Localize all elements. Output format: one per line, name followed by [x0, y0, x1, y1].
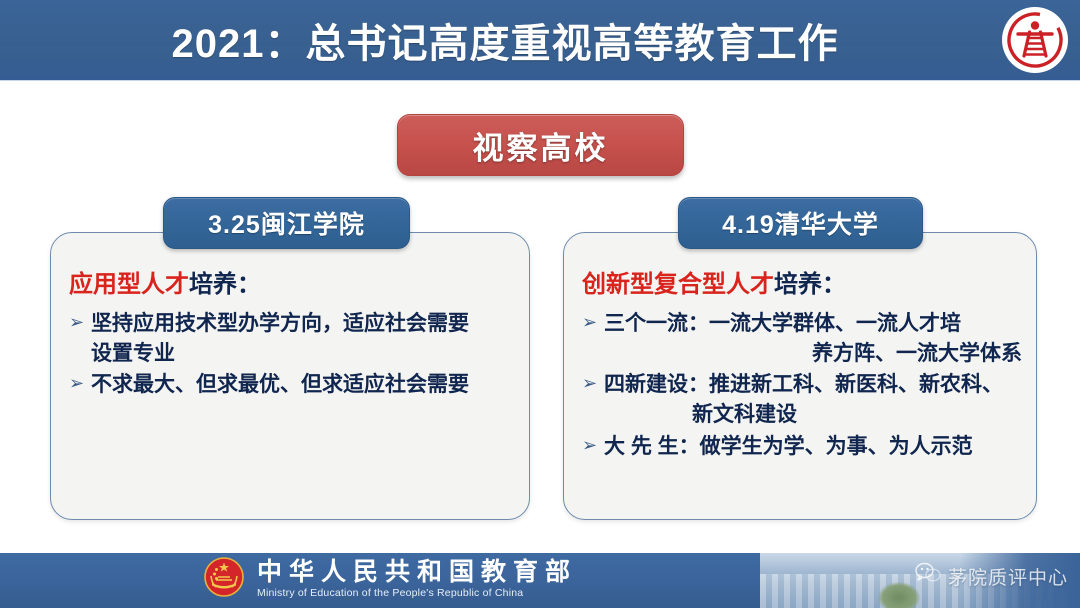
list-item-line1: 三个一流：一流大学群体、一流人才培	[604, 312, 961, 335]
list-item-line2: 养方阵、一流大学体系	[604, 339, 1026, 369]
list-item: ➢ 四新建设：推进新工科、新医科、新农科、 新文科建设	[582, 370, 1026, 430]
card-minjiang-heading: 应用型人才培养：	[69, 271, 519, 300]
page-title: 2021：总书记高度重视高等教育工作	[0, 0, 1010, 80]
ministry-name-en: Ministry of Education of the People's Re…	[257, 587, 577, 600]
list-item: ➢ 大 先 生：做学生为学、为事、为人示范	[582, 432, 1026, 462]
card-tsinghua-tab-label: 4.19清华大学	[722, 205, 879, 241]
list-item: ➢ 三个一流：一流大学群体、一流人才培 养方阵、一流大学体系	[582, 309, 1026, 369]
wechat-icon	[915, 562, 941, 590]
card-tsinghua-bullets: ➢ 三个一流：一流大学群体、一流人才培 养方阵、一流大学体系 ➢ 四新建设：推进…	[582, 309, 1026, 462]
card-minjiang-body: 应用型人才培养： ➢ 坚持应用技术型办学方向，适应社会需要 设置专业 ➢ 不求最…	[51, 271, 529, 402]
section-badge-label: 视察高校	[473, 123, 609, 168]
list-item-text: 大 先 生：做学生为学、为事、为人示范	[604, 432, 1026, 462]
card-tsinghua-tab: 4.19清华大学	[678, 197, 923, 249]
heading-rest: 培养：	[774, 271, 846, 298]
list-item-text: 坚持应用技术型办学方向，适应社会需要 设置专业	[91, 309, 519, 369]
heading-highlight: 创新型复合型人才	[582, 271, 774, 298]
card-tsinghua-heading: 创新型复合型人才培养：	[582, 271, 1026, 300]
arrow-bullet-icon: ➢	[69, 370, 91, 398]
list-item-text: 三个一流：一流大学群体、一流人才培 养方阵、一流大学体系	[604, 309, 1026, 369]
card-tsinghua: 创新型复合型人才培养： ➢ 三个一流：一流大学群体、一流人才培 养方阵、一流大学…	[563, 232, 1037, 520]
card-minjiang-bullets: ➢ 坚持应用技术型办学方向，适应社会需要 设置专业 ➢ 不求最大、但求最优、但求…	[69, 309, 519, 400]
arrow-bullet-icon: ➢	[582, 370, 604, 398]
arrow-bullet-icon: ➢	[69, 309, 91, 337]
list-item-line2: 新文科建设	[604, 400, 1026, 430]
list-item-line1: 不求最大、但求最优、但求适应社会需要	[91, 373, 469, 396]
list-item: ➢ 不求最大、但求最优、但求适应社会需要	[69, 370, 519, 400]
slide-footer: 中华人民共和国教育部 Ministry of Education of the …	[0, 553, 1080, 608]
list-item-line1: 大 先 生：做学生为学、为事、为人示范	[604, 435, 973, 458]
heading-rest: 培养：	[189, 271, 261, 298]
ministry-name-cn: 中华人民共和国教育部	[257, 559, 577, 587]
ministry-text: 中华人民共和国教育部 Ministry of Education of the …	[257, 559, 577, 600]
list-item-line1: 四新建设：推进新工科、新医科、新农科、	[604, 373, 1003, 396]
list-item-line1: 坚持应用技术型办学方向，适应社会需要	[91, 312, 469, 335]
watermark-label: 茅院质评中心	[948, 563, 1068, 590]
ministry-branding: 中华人民共和国教育部 Ministry of Education of the …	[203, 556, 577, 603]
national-emblem-icon	[203, 556, 245, 603]
list-item-text: 四新建设：推进新工科、新医科、新农科、 新文科建设	[604, 370, 1026, 430]
arrow-bullet-icon: ➢	[582, 432, 604, 460]
heading-highlight: 应用型人才	[69, 271, 189, 298]
list-item: ➢ 坚持应用技术型办学方向，适应社会需要 设置专业	[69, 309, 519, 369]
arrow-bullet-icon: ➢	[582, 309, 604, 337]
watermark: 茅院质评中心	[915, 562, 1068, 590]
slide-header: 2021：总书记高度重视高等教育工作	[0, 0, 1080, 80]
card-minjiang-tab-label: 3.25闽江学院	[208, 205, 365, 241]
card-tsinghua-body: 创新型复合型人才培养： ➢ 三个一流：一流大学群体、一流人才培 养方阵、一流大学…	[564, 271, 1036, 464]
section-badge: 视察高校	[397, 114, 684, 176]
card-minjiang: 应用型人才培养： ➢ 坚持应用技术型办学方向，适应社会需要 设置专业 ➢ 不求最…	[50, 232, 530, 520]
campus-photo-tree	[878, 582, 920, 608]
university-emblem-icon	[1002, 7, 1068, 73]
list-item-line2: 设置专业	[91, 339, 519, 369]
list-item-text: 不求最大、但求最优、但求适应社会需要	[91, 370, 519, 400]
card-minjiang-tab: 3.25闽江学院	[163, 197, 410, 249]
